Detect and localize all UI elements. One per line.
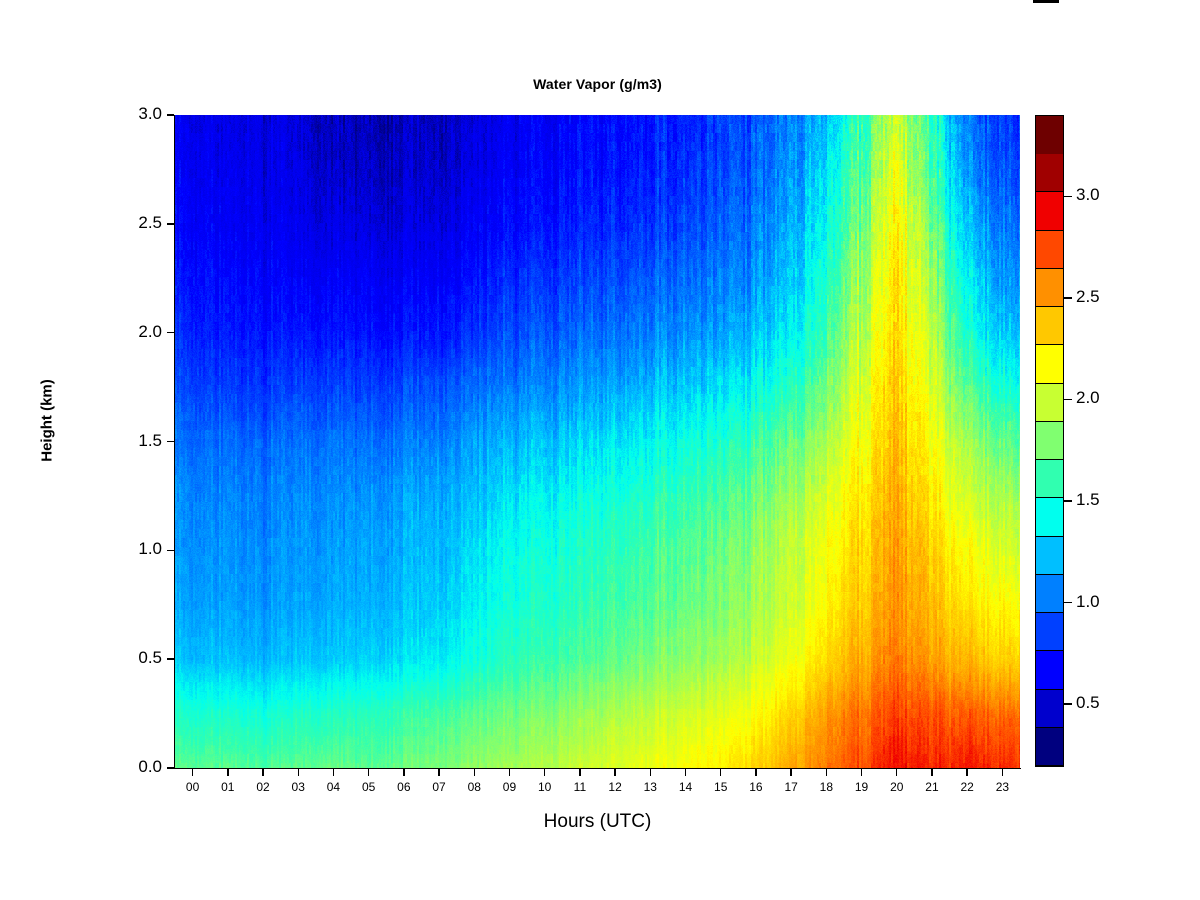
x-tick-label: 04	[313, 780, 353, 794]
x-tick-label: 12	[595, 780, 635, 794]
y-tick-mark	[167, 332, 174, 333]
colorbar-band	[1036, 345, 1063, 383]
x-tick-mark	[368, 769, 369, 776]
x-tick-mark	[509, 769, 510, 776]
x-tick-mark	[544, 769, 545, 776]
x-tick-label: 18	[806, 780, 846, 794]
x-tick-mark	[298, 769, 299, 776]
colorbar-band	[1036, 575, 1063, 613]
x-tick-label: 19	[842, 780, 882, 794]
x-tick-label: 03	[278, 780, 318, 794]
y-tick-mark	[167, 767, 174, 768]
x-axis-line	[175, 768, 1021, 769]
y-tick-label: 1.0	[110, 539, 162, 559]
colorbar-band	[1036, 651, 1063, 689]
colorbar-band	[1036, 269, 1063, 307]
x-tick-label: 20	[877, 780, 917, 794]
page-title: Water Vapor (g/m3)	[175, 76, 1020, 92]
colorbar-tick-mark	[1064, 703, 1072, 704]
colorbar-band	[1036, 307, 1063, 345]
colorbar-tick-label: 1.5	[1076, 490, 1100, 510]
x-tick-label: 15	[701, 780, 741, 794]
x-tick-mark	[262, 769, 263, 776]
x-tick-label: 14	[666, 780, 706, 794]
x-tick-label: 00	[173, 780, 213, 794]
y-tick-label: 3.0	[110, 104, 162, 124]
colorbar-band	[1036, 690, 1063, 728]
y-tick-mark	[167, 658, 174, 659]
colorbar-band	[1036, 384, 1063, 422]
x-tick-label: 02	[243, 780, 283, 794]
x-tick-mark	[403, 769, 404, 776]
x-tick-mark	[826, 769, 827, 776]
y-tick-label: 0.0	[110, 757, 162, 777]
x-tick-label: 11	[560, 780, 600, 794]
x-tick-mark	[650, 769, 651, 776]
x-tick-label: 06	[384, 780, 424, 794]
x-tick-mark	[333, 769, 334, 776]
x-tick-mark	[579, 769, 580, 776]
y-tick-mark	[167, 441, 174, 442]
colorbar-tick-label: 2.5	[1076, 287, 1100, 307]
x-tick-label: 13	[630, 780, 670, 794]
heatmap-plot-area	[175, 115, 1020, 768]
colorbar-tick-mark	[1064, 602, 1072, 603]
colorbar-tick-mark	[1064, 399, 1072, 400]
x-tick-mark	[790, 769, 791, 776]
colorbar-tick-label: 1.0	[1076, 592, 1100, 612]
y-tick-label: 0.5	[110, 648, 162, 668]
y-tick-mark	[167, 550, 174, 551]
colorbar-band	[1036, 537, 1063, 575]
x-tick-label: 21	[912, 780, 952, 794]
x-tick-mark	[192, 769, 193, 776]
colorbar-tick-mark	[1064, 297, 1072, 298]
colorbar-band	[1036, 728, 1063, 766]
water-vapor-figure: Water Vapor (g/m3) 0.00.51.01.52.02.53.0…	[0, 0, 1200, 900]
x-tick-mark	[1002, 769, 1003, 776]
colorbar-band	[1036, 498, 1063, 536]
colorbar-band	[1036, 422, 1063, 460]
x-axis-title: Hours (UTC)	[175, 811, 1020, 833]
x-tick-mark	[685, 769, 686, 776]
x-tick-label: 16	[736, 780, 776, 794]
top-edge-artifact	[1033, 0, 1059, 3]
colorbar-band	[1036, 116, 1063, 154]
x-tick-mark	[896, 769, 897, 776]
colorbar-band	[1036, 231, 1063, 269]
x-tick-label: 22	[947, 780, 987, 794]
x-tick-mark	[614, 769, 615, 776]
x-tick-mark	[966, 769, 967, 776]
x-tick-label: 05	[349, 780, 389, 794]
x-tick-mark	[861, 769, 862, 776]
colorbar	[1035, 115, 1064, 767]
y-tick-label: 2.0	[110, 322, 162, 342]
x-tick-label: 01	[208, 780, 248, 794]
heatmap-canvas	[175, 115, 1020, 768]
y-tick-mark	[167, 223, 174, 224]
colorbar-tick-mark	[1064, 500, 1072, 501]
y-tick-mark	[167, 114, 174, 115]
y-axis-title: Height (km)	[39, 341, 56, 501]
y-tick-label: 1.5	[110, 431, 162, 451]
x-tick-mark	[931, 769, 932, 776]
x-tick-label: 08	[454, 780, 494, 794]
colorbar-band	[1036, 613, 1063, 651]
x-tick-label: 17	[771, 780, 811, 794]
x-tick-label: 09	[489, 780, 529, 794]
colorbar-tick-label: 3.0	[1076, 185, 1100, 205]
colorbar-tick-label: 0.5	[1076, 693, 1100, 713]
x-tick-mark	[438, 769, 439, 776]
x-tick-mark	[227, 769, 228, 776]
x-tick-mark	[755, 769, 756, 776]
y-tick-label: 2.5	[110, 213, 162, 233]
colorbar-band	[1036, 192, 1063, 230]
x-tick-label: 07	[419, 780, 459, 794]
x-tick-label: 23	[982, 780, 1022, 794]
colorbar-band	[1036, 154, 1063, 192]
colorbar-band	[1036, 460, 1063, 498]
x-tick-mark	[720, 769, 721, 776]
x-tick-label: 10	[525, 780, 565, 794]
colorbar-tick-mark	[1064, 196, 1072, 197]
y-axis-line	[174, 115, 175, 769]
colorbar-tick-label: 2.0	[1076, 388, 1100, 408]
x-tick-mark	[474, 769, 475, 776]
